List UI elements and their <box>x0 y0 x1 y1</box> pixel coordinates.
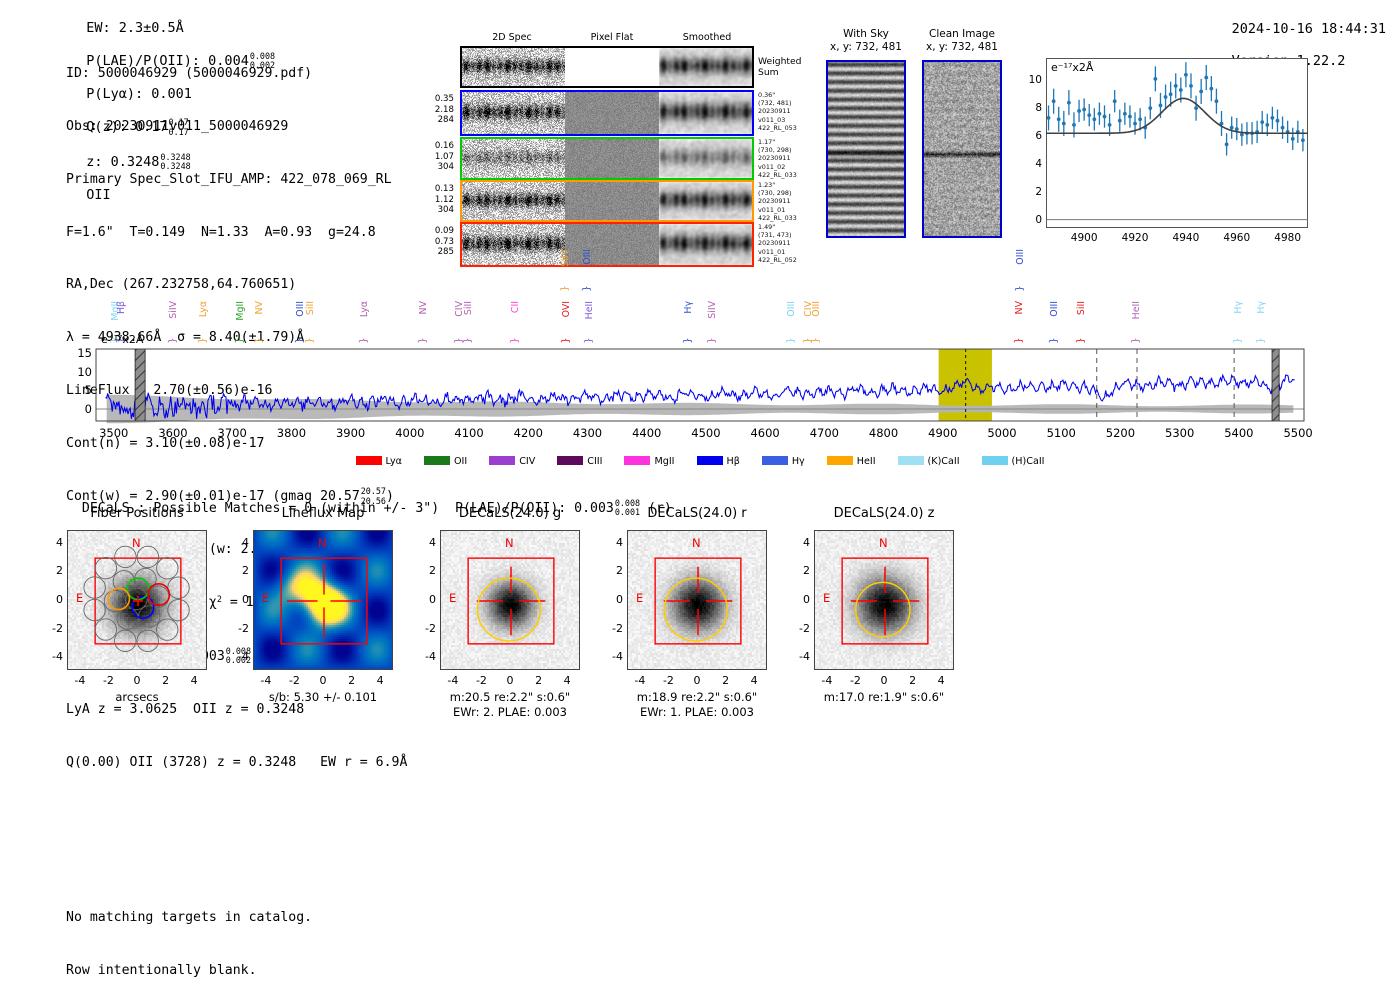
emission-line-label: OIII <box>811 301 822 317</box>
fit-ytick: 0 <box>1022 214 1042 226</box>
spec2d-meta-value: 422_RL_033 <box>758 214 818 222</box>
spec2d-stat-value: 0.09 <box>420 226 454 237</box>
compass-east: E <box>262 591 269 605</box>
panel-xtick: 4 <box>371 674 389 687</box>
legend-swatch <box>898 456 924 465</box>
legend-item: MgII <box>624 456 674 467</box>
compass-north: N <box>692 536 701 550</box>
compass-north: N <box>879 536 888 550</box>
spec2d-row-meta: 0.36"(732, 481)20230911v011_03422_RL_053 <box>758 91 818 132</box>
emission-line-label: SiII <box>305 301 316 315</box>
spec2d-row-stats: 0.131.12304 <box>420 184 454 216</box>
legend-label: (H)CaII <box>1012 456 1045 467</box>
panel-ytick: -4 <box>45 650 63 663</box>
emission-line-brace: { <box>582 337 593 343</box>
spectrum-xtick: 4200 <box>514 426 543 440</box>
emission-line-label: Lyα <box>359 301 370 317</box>
spec2d-row <box>460 137 754 180</box>
panel-caption-primary: m:17.0 re:1.9" s:0.6" <box>774 690 994 705</box>
cutout-header: Clean Imagex, y: 732, 481 <box>902 28 1022 53</box>
spec2d-meta-value: v011_01 <box>758 248 818 256</box>
spec2d-meta-value: (731, 473) <box>758 231 818 239</box>
legend-label: MgII <box>654 456 674 467</box>
fit-plot-units: e⁻¹⁷x2Å <box>1051 61 1093 74</box>
spec2d-raw-cell <box>462 48 565 86</box>
compass-north: N <box>318 536 327 550</box>
emission-line-brace: { <box>560 337 571 343</box>
legend-swatch <box>762 456 788 465</box>
panel-xtick: 0 <box>128 674 146 687</box>
spec2d-row <box>460 180 754 222</box>
emission-line-label: NV <box>1014 301 1025 314</box>
spectrum-xtick: 3600 <box>158 426 187 440</box>
spec2d-meta-value: v011_01 <box>758 206 818 214</box>
weighted-sum-line2: Sum <box>758 67 802 78</box>
spectrum-xtick: 5300 <box>1165 426 1194 440</box>
panel-ytick: 2 <box>418 564 436 577</box>
imaging-panel-lineflux[interactable] <box>253 530 393 670</box>
panel-ytick: 2 <box>792 564 810 577</box>
panel-ytick: 2 <box>45 564 63 577</box>
panel-xtick: 0 <box>875 674 893 687</box>
emission-line-brace: { <box>509 337 520 343</box>
emission-line-label: NV <box>254 301 265 314</box>
emission-line-brace: { <box>810 337 821 343</box>
panel-ytick: 4 <box>605 536 623 549</box>
panel-ytick: -4 <box>605 650 623 663</box>
legend-label: CIII <box>587 456 602 467</box>
panel-xtick: 0 <box>688 674 706 687</box>
emission-line-label: SiIV <box>560 249 571 267</box>
emission-line-legend: LyαOIICIVCIIIMgIIHβHγHeII(K)CaII(H)CaII <box>0 456 1400 467</box>
legend-swatch <box>982 456 1008 465</box>
emission-line-brace: { <box>785 337 796 343</box>
emission-line-brace: { <box>1048 337 1059 343</box>
panel-caption-secondary: EWr: 1. PLAE: 0.003 <box>587 705 807 720</box>
emission-line-brace: { <box>581 285 592 291</box>
emission-line-label: HeII <box>584 301 595 319</box>
emission-line-label: MgII <box>235 301 246 321</box>
emission-line-brace: { <box>706 337 717 343</box>
emission-line-brace: { <box>303 337 314 343</box>
info-id: ID: 5000046929 (5000046929.pdf) <box>66 65 407 83</box>
panel-ytick: -4 <box>231 650 249 663</box>
spectrum-xtick: 5200 <box>1106 426 1135 440</box>
fit-ytick: 8 <box>1022 102 1042 114</box>
imaging-panel-fibers[interactable] <box>67 530 207 670</box>
emission-line-brace: { <box>167 337 178 343</box>
info-primary-spec: Primary Spec_Slot_IFU_AMP: 422_078_069_R… <box>66 171 407 189</box>
info-obs: Obs: 20230911v011_5000046929 <box>66 118 407 136</box>
emission-line-label: Hβ <box>116 301 127 314</box>
panel-xtick: 2 <box>530 674 548 687</box>
panel-xtick: -4 <box>257 674 275 687</box>
fit-xtick: 4980 <box>1274 232 1301 244</box>
panel-ytick: -2 <box>605 622 623 635</box>
panel-ytick: 4 <box>418 536 436 549</box>
legend-swatch <box>624 456 650 465</box>
panel-xtick: -2 <box>659 674 677 687</box>
pixel-flat-cell <box>565 139 660 178</box>
panel-xtick: 4 <box>185 674 203 687</box>
footer-note: No matching targets in catalog. Row inte… <box>66 874 312 997</box>
panel-xtick: 2 <box>343 674 361 687</box>
spec2d-stat-value: 285 <box>420 247 454 258</box>
emission-line-label: OIII <box>786 301 797 317</box>
legend-item: HeII <box>827 456 876 467</box>
fit-ytick: 6 <box>1022 130 1042 142</box>
legend-item: (H)CaII <box>982 456 1045 467</box>
spectrum-ytick: 0 <box>70 402 92 416</box>
panel-ytick: 0 <box>45 593 63 606</box>
panel-overlay <box>254 531 393 670</box>
compass-east: E <box>449 591 456 605</box>
spec2d-meta-value: 20230911 <box>758 107 818 115</box>
spec2d-meta-value: (730, 298) <box>758 146 818 154</box>
spec2d-meta-value: 422_RL_053 <box>758 124 818 132</box>
panel-ytick: -2 <box>792 622 810 635</box>
legend-label: OII <box>454 456 467 467</box>
spectrum-xtick: 5500 <box>1283 426 1312 440</box>
spec2d-meta-value: v011_03 <box>758 116 818 124</box>
spectrum-xtick: 3900 <box>336 426 365 440</box>
panel-xtick: -2 <box>99 674 117 687</box>
legend-swatch <box>489 456 515 465</box>
panel-xtick: 4 <box>745 674 763 687</box>
spectrum-ytick: 5 <box>70 383 92 397</box>
spec2d-row-meta: 1.49"(731, 473)20230911v011_01422_RL_052 <box>758 223 818 264</box>
with-sky-image <box>826 60 906 238</box>
emission-line-brace: { <box>115 337 126 343</box>
weighted-sum-label: WeightedSum <box>758 56 802 78</box>
compass-north: N <box>132 536 141 550</box>
spec2d-meta-value: (730, 298) <box>758 189 818 197</box>
spec2d-column-header-2: Smoothed <box>667 32 747 43</box>
spec2d-stat-value: 2.18 <box>420 105 454 116</box>
spec2d-meta-value: 1.49" <box>758 223 818 231</box>
spec2d-meta-value: (732, 481) <box>758 99 818 107</box>
pixel-flat-cell <box>565 92 660 134</box>
fit-ytick: 2 <box>1022 186 1042 198</box>
legend-swatch <box>356 456 382 465</box>
fit-ytick: 4 <box>1022 158 1042 170</box>
emission-line-label: CII <box>510 301 521 313</box>
emission-line-brace: { <box>462 337 473 343</box>
emission-line-label: SiIV <box>707 301 718 319</box>
spectrum-xtick: 4100 <box>454 426 483 440</box>
spec2d-meta-value: 20230911 <box>758 239 818 247</box>
fit-xtick: 4920 <box>1122 232 1149 244</box>
panel-ytick: 4 <box>231 536 249 549</box>
legend-label: HeII <box>857 456 876 467</box>
panel-overlay <box>68 531 207 670</box>
fit-plot-axes <box>1046 58 1308 228</box>
panel-overlay <box>628 531 767 670</box>
info-solution: Q(0.00) OII (3728) z = 0.3248 EW r = 6.9… <box>66 754 407 772</box>
legend-swatch <box>697 456 723 465</box>
emission-line-label: OIII <box>1049 301 1060 317</box>
spec2d-row-stats: 0.161.07304 <box>420 141 454 173</box>
legend-label: Lyα <box>386 456 402 467</box>
panel-ytick: -2 <box>418 622 436 635</box>
emission-line-brace: { <box>682 337 693 343</box>
panel-xtick: 2 <box>717 674 735 687</box>
spec2d-raw-cell <box>462 139 565 178</box>
spec2d-row-stats: 0.090.73285 <box>420 226 454 258</box>
spectrum-xtick: 3700 <box>218 426 247 440</box>
emission-line-label: SiII <box>463 301 474 315</box>
panel-xtick: 4 <box>558 674 576 687</box>
pixel-flat-cell <box>565 182 660 220</box>
smoothed-cell <box>659 182 752 220</box>
smoothed-cell <box>659 92 752 134</box>
legend-item: CIII <box>557 456 602 467</box>
spec2d-meta-value: 422_RL_052 <box>758 256 818 264</box>
legend-swatch <box>827 456 853 465</box>
clean-image <box>922 60 1002 238</box>
pixel-flat-cell <box>565 48 660 86</box>
footer-line-1: No matching targets in catalog. <box>66 909 312 927</box>
spec2d-meta-value: 20230911 <box>758 197 818 205</box>
panel-ytick: 2 <box>605 564 623 577</box>
emission-line-label: OVI <box>561 301 572 317</box>
spec2d-column-header-1: Pixel Flat <box>572 32 652 43</box>
spec2d-stat-value: 1.07 <box>420 152 454 163</box>
panel-ytick: 4 <box>792 536 810 549</box>
smoothed-cell <box>659 224 752 265</box>
spec2d-row <box>460 90 754 136</box>
panel-overlay <box>441 531 580 670</box>
spec2d-stat-value: 284 <box>420 115 454 126</box>
emission-line-label: NV <box>418 301 429 314</box>
cutout-title: Clean Image <box>902 28 1022 41</box>
spec2d-stat-value: 0.16 <box>420 141 454 152</box>
emission-line-brace: { <box>234 337 245 343</box>
fit-xtick: 4940 <box>1173 232 1200 244</box>
imaging-panel-title: DECaLS(24.0) r <box>597 506 797 521</box>
spec2d-meta-value: 1.17" <box>758 138 818 146</box>
smoothed-cell <box>659 139 752 178</box>
footer-line-2: Row intentionally blank. <box>66 962 312 980</box>
spectrum-xtick: 5000 <box>987 426 1016 440</box>
panel-xtick: -2 <box>472 674 490 687</box>
emission-line-label: HeII <box>1131 301 1142 319</box>
panel-xtick: 4 <box>932 674 950 687</box>
legend-label: (K)CaII <box>928 456 960 467</box>
panel-ytick: -2 <box>231 622 249 635</box>
spectrum-xtick: 4900 <box>928 426 957 440</box>
spec2d-meta-value: v011_02 <box>758 163 818 171</box>
emission-line-label: OIII <box>582 249 593 265</box>
legend-swatch <box>557 456 583 465</box>
spec2d-stat-value: 0.13 <box>420 184 454 195</box>
spec2d-meta-value: 0.36" <box>758 91 818 99</box>
spectrum-xtick: 4300 <box>573 426 602 440</box>
panel-ytick: -2 <box>45 622 63 635</box>
emission-line-brace: { <box>559 285 570 291</box>
imaging-panel-title: Fiber Positions <box>37 506 237 521</box>
emission-line-label: SiIV <box>168 301 179 319</box>
spectrum-ytick: 10 <box>70 365 92 379</box>
smoothed-cell <box>659 48 752 86</box>
spec2d-raw-cell <box>462 92 565 134</box>
weighted-sum-line1: Weighted <box>758 56 802 67</box>
panel-xtick: -4 <box>631 674 649 687</box>
emission-line-label: SiII <box>1076 301 1087 315</box>
emission-line-brace: { <box>417 337 428 343</box>
spec2d-row-meta: 1.17"(730, 298)20230911v011_02422_RL_033 <box>758 138 818 179</box>
spec2d-meta-value: 20230911 <box>758 154 818 162</box>
spec2d-stat-value: 304 <box>420 205 454 216</box>
emission-line-brace: { <box>1254 337 1265 343</box>
panel-xtick: -4 <box>71 674 89 687</box>
emission-line-brace: { <box>197 337 208 343</box>
spec2d-row <box>460 222 754 267</box>
pixel-flat-cell <box>565 224 660 265</box>
spec2d-row-stats: 0.352.18284 <box>420 94 454 126</box>
emission-line-brace: { <box>1130 337 1141 343</box>
imaging-panel-image[interactable] <box>814 530 954 670</box>
fit-ytick: 10 <box>1022 74 1042 86</box>
spec2d-row <box>460 46 754 88</box>
panel-xtick: 2 <box>904 674 922 687</box>
spec2d-raw-cell <box>462 224 565 265</box>
spectrum-xtick: 5400 <box>1224 426 1253 440</box>
imaging-panel-image[interactable] <box>627 530 767 670</box>
emission-line-brace: { <box>1074 337 1085 343</box>
panel-ytick: 0 <box>418 593 436 606</box>
timestamp: 2024-10-16 18:44:31 <box>1232 21 1386 37</box>
emission-line-label: Hγ <box>1256 301 1267 314</box>
emission-line-label: Lyα <box>198 301 209 317</box>
emission-line-brace: { <box>1013 285 1024 291</box>
legend-swatch <box>424 456 450 465</box>
imaging-panel-title: Lineflux Map <box>223 506 423 521</box>
spec2d-stat-value: 0.35 <box>420 94 454 105</box>
panel-overlay <box>815 531 954 670</box>
panel-ytick: 2 <box>231 564 249 577</box>
panel-xtick: 0 <box>314 674 332 687</box>
spec2d-raw-cell <box>462 182 565 220</box>
emission-line-brace: { <box>1231 337 1242 343</box>
emission-line-label: Hγ <box>683 301 694 314</box>
spectrum-xtick: 5100 <box>1047 426 1076 440</box>
legend-item: Hγ <box>762 456 805 467</box>
imaging-panel-title: DECaLS(24.0) g <box>410 506 610 521</box>
panel-xtick: -2 <box>285 674 303 687</box>
spec2d-meta-value: 1.23" <box>758 181 818 189</box>
compass-north: N <box>505 536 514 550</box>
imaging-panel-title: DECaLS(24.0) z <box>784 506 984 521</box>
spec2d-row-meta: 1.23"(730, 298)20230911v011_01422_RL_033 <box>758 181 818 222</box>
emission-line-label: OIII <box>1015 249 1026 265</box>
spectrum-xtick: 3800 <box>277 426 306 440</box>
compass-east: E <box>76 591 83 605</box>
panel-ytick: 4 <box>45 536 63 549</box>
spec2d-meta-value: 422_RL_033 <box>758 171 818 179</box>
panel-xtick: -4 <box>444 674 462 687</box>
info-lineflux: LineFlux = 2.70(±0.56)e-16 <box>66 382 407 400</box>
panel-ytick: 0 <box>605 593 623 606</box>
panel-xtick: -2 <box>846 674 864 687</box>
spectrum-xtick: 4400 <box>632 426 661 440</box>
spectrum-xtick: 3500 <box>99 426 128 440</box>
legend-item: CIV <box>489 456 535 467</box>
legend-item: (K)CaII <box>898 456 960 467</box>
info-params: F=1.6" T=0.149 N=1.33 A=0.93 g=24.8 <box>66 224 407 242</box>
compass-east: E <box>636 591 643 605</box>
spectrum-xtick: 4000 <box>395 426 424 440</box>
emission-line-brace: { <box>1013 337 1024 343</box>
panel-ytick: -4 <box>792 650 810 663</box>
spectrum-xtick: 4700 <box>810 426 839 440</box>
fit-xtick: 4960 <box>1223 232 1250 244</box>
legend-label: Hγ <box>792 456 805 467</box>
info-radec: RA,Dec (267.232758,64.760651) <box>66 276 407 294</box>
spec2d-stat-value: 1.12 <box>420 195 454 206</box>
cutout-coords: x, y: 732, 481 <box>902 41 1022 54</box>
spec2d-stat-value: 304 <box>420 162 454 173</box>
emission-line-brace: { <box>253 337 264 343</box>
legend-item: Lyα <box>356 456 402 467</box>
emission-line-label: Hγ <box>1233 301 1244 314</box>
spectrum-xtick: 4600 <box>750 426 779 440</box>
compass-east: E <box>823 591 830 605</box>
panel-xtick: -4 <box>818 674 836 687</box>
legend-item: Hβ <box>697 456 740 467</box>
emission-line-brace: { <box>357 337 368 343</box>
legend-item: OII <box>424 456 467 467</box>
spec2d-stat-value: 0.73 <box>420 237 454 248</box>
panel-ytick: 0 <box>792 593 810 606</box>
legend-label: CIV <box>519 456 535 467</box>
spectrum-ytick: 15 <box>70 346 92 360</box>
legend-label: Hβ <box>727 456 740 467</box>
fit-xtick: 4900 <box>1071 232 1098 244</box>
spectrum-xtick: 4800 <box>869 426 898 440</box>
panel-ytick: 0 <box>231 593 249 606</box>
imaging-panel-image[interactable] <box>440 530 580 670</box>
panel-xtick: 0 <box>501 674 519 687</box>
spec2d-column-header-0: 2D Spec <box>472 32 552 43</box>
panel-xtick: 2 <box>157 674 175 687</box>
spectrum-xtick: 4500 <box>691 426 720 440</box>
panel-ytick: -4 <box>418 650 436 663</box>
